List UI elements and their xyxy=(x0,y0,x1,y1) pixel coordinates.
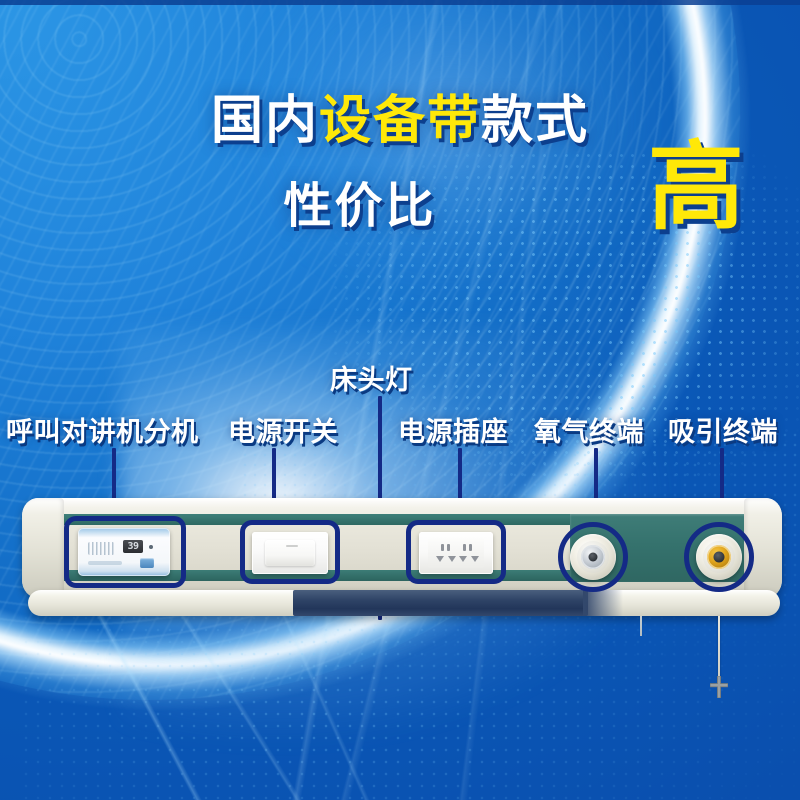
callout-label-bed-lamp: 床头灯 xyxy=(330,358,413,397)
headline-part1: 国内 xyxy=(211,92,319,150)
top-edge-bar xyxy=(0,0,800,5)
highlight-circle-oxygen xyxy=(558,522,628,592)
callout-label-socket: 电源插座 xyxy=(398,410,508,449)
headline-highlight: 设备带 xyxy=(319,92,481,150)
callout-label-intercom: 呼叫对讲机分机 xyxy=(6,410,199,449)
highlight-box-socket xyxy=(406,520,506,584)
panel-end-cap-left xyxy=(22,498,64,598)
highlight-circle-suction xyxy=(684,522,754,592)
callout-label-suction: 吸引终端 xyxy=(668,410,778,449)
headline-part3: 款式 xyxy=(481,92,589,150)
subheadline-emphasis: 高 xyxy=(648,140,744,236)
poster-canvas: 国内设备带款式 性价比 高 呼叫对讲机分机 电源开关 床头灯 电源插座 氧气终端… xyxy=(0,0,800,800)
callout-label-oxygen: 氧气终端 xyxy=(534,410,644,449)
oxygen-cord xyxy=(640,616,642,636)
panel-lower-rail xyxy=(28,590,780,616)
subheadline: 性价比 高 xyxy=(0,158,800,244)
subheadline-text: 性价比 xyxy=(283,166,436,236)
rail-accent-fade xyxy=(583,590,623,616)
callout-label-switch: 电源开关 xyxy=(228,410,338,449)
highlight-box-switch xyxy=(240,520,340,584)
suction-cord xyxy=(718,616,720,680)
cord-weight-clip-icon xyxy=(710,676,728,698)
highlight-box-intercom xyxy=(64,516,186,588)
rail-accent-strip xyxy=(293,590,588,616)
